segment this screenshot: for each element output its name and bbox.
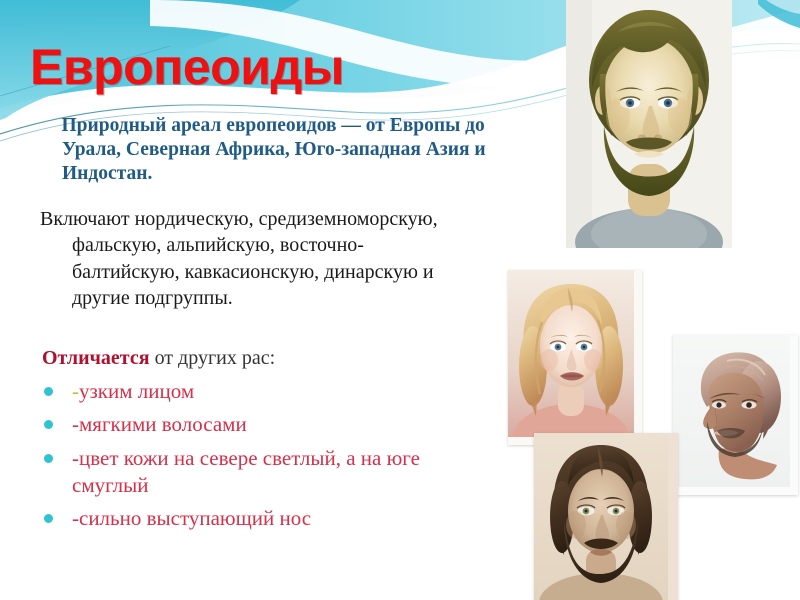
bullet-dot-icon: [44, 454, 53, 463]
list-item-lead-dash: -: [72, 379, 79, 403]
bullet-dot-icon: [44, 420, 53, 429]
list-item-label: -сильно выступающий нос: [72, 506, 311, 530]
list-item[interactable]: -мягкими волосами: [36, 411, 486, 438]
list-item-label: -цвет кожи на севере светлый, а на юге с…: [72, 446, 420, 497]
bearded-man-illustration: [566, 0, 732, 248]
body-paragraph-text: Включают нордическую, средиземноморскую,…: [40, 206, 470, 312]
profile-man-photo-inner: [673, 335, 798, 495]
wave-cyan-topright-sliver: [758, 0, 800, 28]
list-item[interactable]: -цвет кожи на севере светлый, а на юге с…: [36, 445, 486, 500]
differences-heading-accent: Отличается: [42, 347, 150, 369]
wave-white-topright-sliver: [766, 0, 800, 14]
bullet-dot-icon: [44, 514, 53, 523]
differences-heading-rest: от других рас:: [150, 347, 276, 369]
dark-haired-man-photo: [534, 433, 678, 600]
dark-haired-man-illustration: [534, 433, 668, 600]
list-item[interactable]: -узким лицом: [36, 378, 486, 405]
differences-heading: Отличается от других рас:: [42, 347, 275, 370]
slide-canvas: Европеоиды Природный ареал европеоидов —…: [0, 0, 800, 600]
list-item[interactable]: -сильно выступающий нос: [36, 505, 486, 532]
bearded-man-photo: [566, 0, 732, 248]
body-paragraph: Включают нордическую, средиземноморскую,…: [40, 206, 470, 312]
differences-list: -узким лицом -мягкими волосами -цвет кож…: [36, 378, 486, 538]
bearded-man-photo-inner: [566, 0, 732, 248]
profile-man-illustration: [673, 335, 790, 487]
blonde-woman-photo: [508, 270, 642, 445]
blonde-woman-illustration: [508, 270, 634, 437]
list-item-label: -мягкими волосами: [72, 412, 247, 436]
profile-man-photo: [673, 335, 798, 495]
page-title: Европеоиды: [30, 42, 344, 92]
bullet-dot-icon: [44, 387, 53, 396]
dark-haired-man-photo-inner: [534, 433, 678, 600]
subtitle-text: Природный ареал европеоидов — от Европы …: [62, 114, 492, 185]
blonde-woman-photo-inner: [508, 270, 642, 445]
list-item-label: узким лицом: [79, 379, 194, 403]
